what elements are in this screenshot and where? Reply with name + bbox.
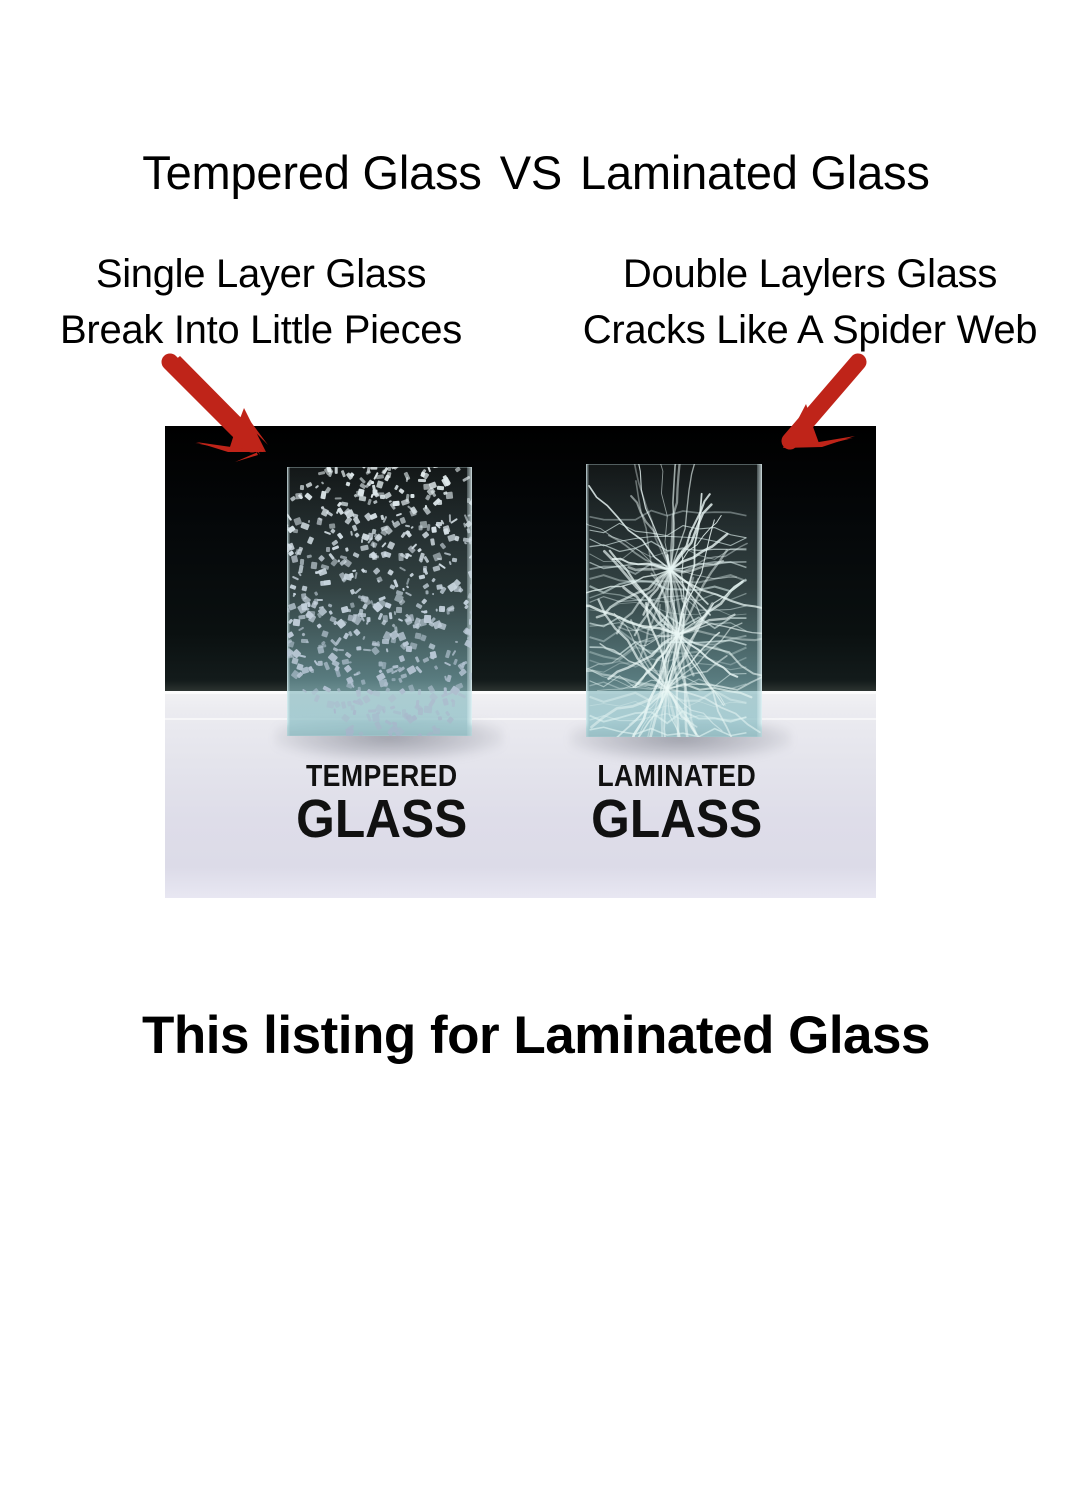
tempered-glass-pane bbox=[287, 467, 472, 736]
photo-caption-laminated-sub: LAMINATED bbox=[579, 759, 775, 792]
spider-web-crack-pattern bbox=[586, 464, 762, 737]
laminated-description-line-1: Double Laylers Glass bbox=[548, 246, 1072, 302]
comparison-columns: Single Layer Glass Break Into Little Pie… bbox=[0, 246, 1072, 376]
tempered-description-line-1: Single Layer Glass bbox=[0, 246, 522, 302]
title-separator: VS bbox=[482, 148, 580, 199]
tempered-description-line-2: Break Into Little Pieces bbox=[0, 302, 522, 358]
laminated-description-line-2: Cracks Like A Spider Web bbox=[548, 302, 1072, 358]
tempered-description: Single Layer Glass Break Into Little Pie… bbox=[0, 246, 522, 358]
photo-floor-highlight bbox=[165, 691, 876, 694]
tempered-fragment-cloud bbox=[287, 467, 472, 736]
listing-note: This listing for Laminated Glass bbox=[0, 1008, 1072, 1064]
photo-caption-laminated: LAMINATED GLASS bbox=[563, 759, 791, 845]
comparison-photo: TEMPERED GLASS LAMINATED GLASS bbox=[165, 426, 876, 898]
photo-caption-tempered-sub: TEMPERED bbox=[284, 759, 480, 792]
photo-dark-backdrop bbox=[165, 426, 876, 691]
laminated-glass-pane bbox=[586, 464, 762, 737]
photo-caption-tempered: TEMPERED GLASS bbox=[268, 759, 496, 845]
photo-floor-highlight-2 bbox=[165, 718, 876, 720]
laminated-description: Double Laylers Glass Cracks Like A Spide… bbox=[548, 246, 1072, 358]
title-right-term: Laminated Glass bbox=[580, 146, 930, 199]
photo-caption-tempered-main: GLASS bbox=[277, 793, 486, 845]
page-title: Tempered GlassVSLaminated Glass bbox=[0, 148, 1072, 199]
title-left-term: Tempered Glass bbox=[142, 146, 481, 199]
photo-caption-laminated-main: GLASS bbox=[572, 793, 781, 845]
